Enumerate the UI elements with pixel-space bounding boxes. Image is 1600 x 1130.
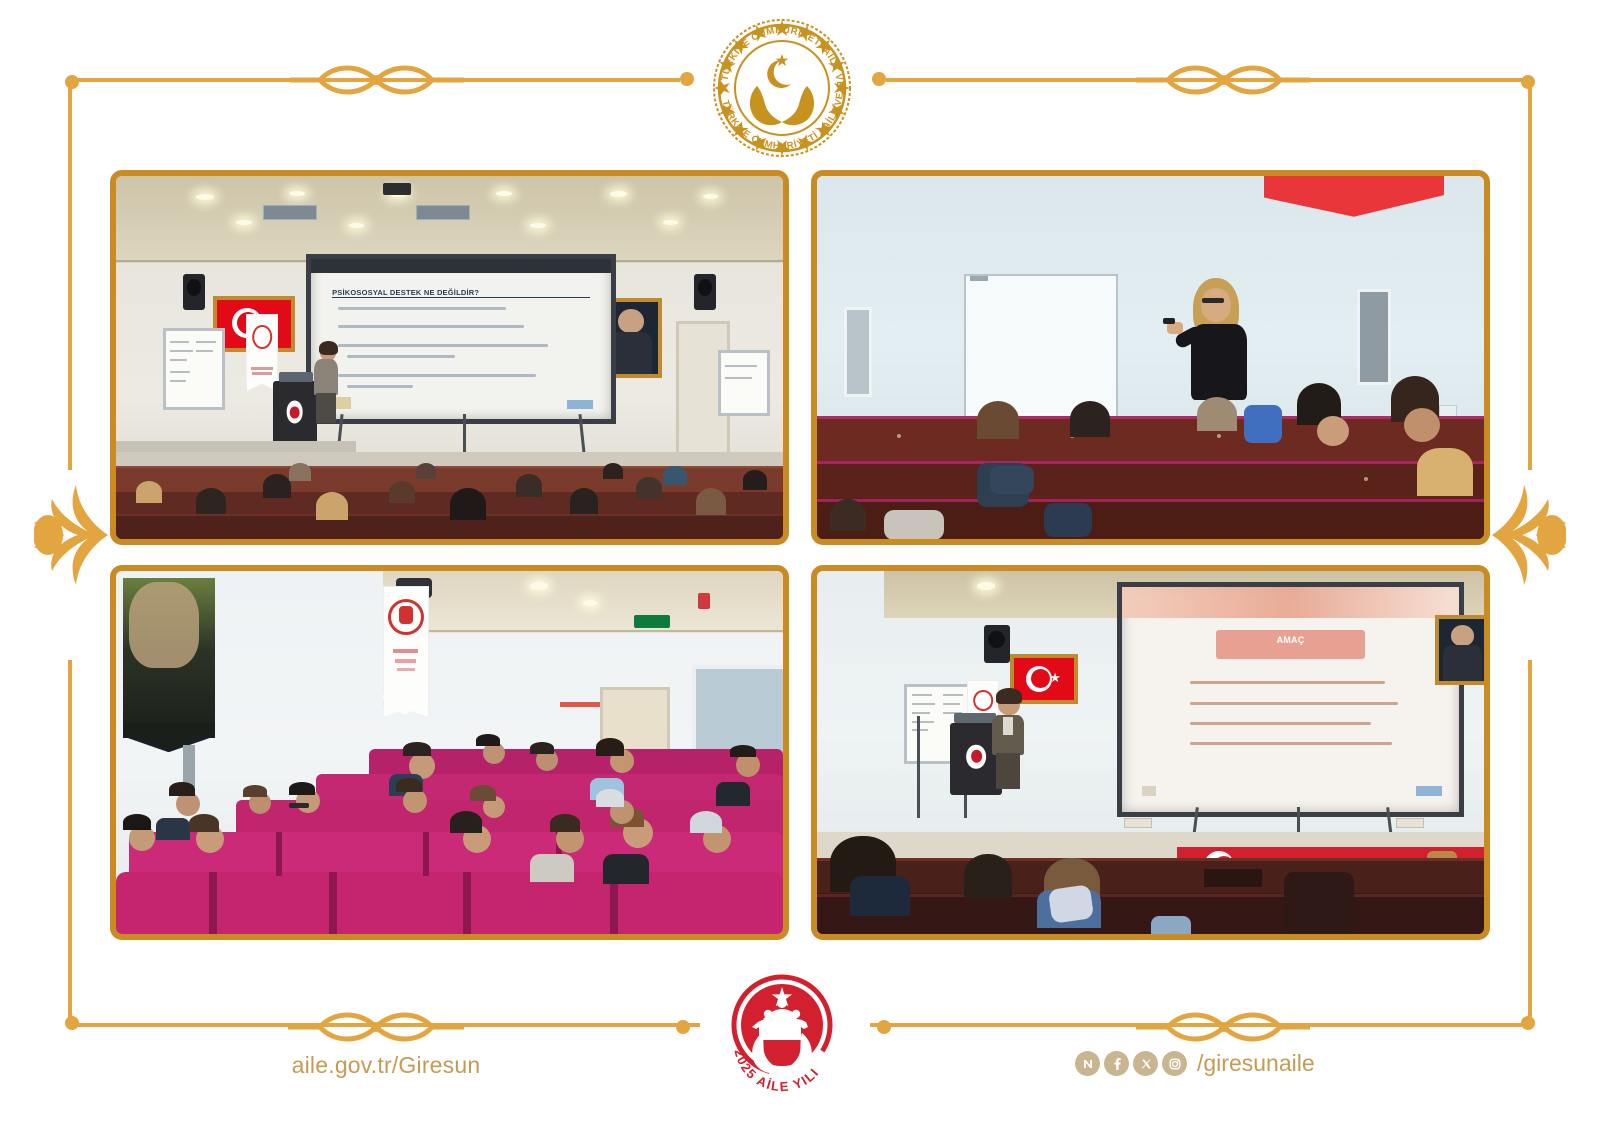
photo-collage-grid: ★ PSİKOSOSYAL DESTEK NE DEĞİLDİR? (110, 170, 1490, 940)
frame-corner-dot (1521, 1016, 1535, 1030)
ministry-banner (246, 314, 278, 382)
photo-bottom-right[interactable]: ★ AMAÇ (811, 565, 1490, 940)
frame-corner-dot (1521, 75, 1535, 89)
podium (273, 381, 317, 449)
slide-title: PSİKOSOSYAL DESTEK NE DEĞİLDİR? (332, 288, 590, 298)
photo-top-left[interactable]: ★ PSİKOSOSYAL DESTEK NE DEĞİLDİR? (110, 170, 789, 545)
frame-corner-dot (65, 75, 79, 89)
projection-screen: AMAÇ (1117, 582, 1464, 817)
projection-screen: PSİKOSOSYAL DESTEK NE DEĞİLDİR? (306, 254, 616, 424)
footer-social-handle[interactable]: /giresunaile (1197, 1050, 1315, 1077)
frame-terminal-dot-bottom-left (676, 1020, 690, 1034)
footer-social-block: /giresunaile (1075, 1050, 1315, 1077)
border-ornament-bottom-right (1134, 1005, 1314, 1049)
ministry-seal: TÜRKİYE CUMHURİYETİ AİLE VE SOSYAL HİZME… (697, 8, 867, 158)
frame-corner-dot (65, 1016, 79, 1030)
border-ornament-bottom-left (286, 1005, 466, 1049)
nsosyal-icon[interactable] (1075, 1051, 1100, 1076)
presenter (990, 691, 1026, 843)
2025-aile-yili-logo: 2025 AİLE YILI (718, 967, 846, 1095)
ataturk-portrait (1435, 615, 1484, 685)
photo-bottom-left[interactable] (110, 565, 789, 940)
instagram-icon[interactable] (1162, 1051, 1187, 1076)
border-ornament-top-right (1134, 58, 1314, 102)
photo-top-right[interactable] (811, 170, 1490, 545)
footer-website[interactable]: aile.gov.tr/Giresun (176, 1052, 596, 1079)
ministry-banner (383, 586, 429, 708)
exit-sign (634, 615, 670, 628)
palmette-side-ornament-left (34, 475, 108, 595)
frame-terminal-dot-bottom-right (877, 1020, 891, 1034)
palmette-side-ornament-right (1492, 475, 1566, 595)
facebook-icon[interactable] (1104, 1051, 1129, 1076)
border-ornament-top-left (286, 58, 466, 102)
frame-terminal-dot-left (680, 72, 694, 86)
presenter (313, 343, 341, 421)
slide-title: AMAÇ (1216, 635, 1364, 645)
x-twitter-icon[interactable] (1133, 1051, 1158, 1076)
frame-terminal-dot-right (872, 72, 886, 86)
